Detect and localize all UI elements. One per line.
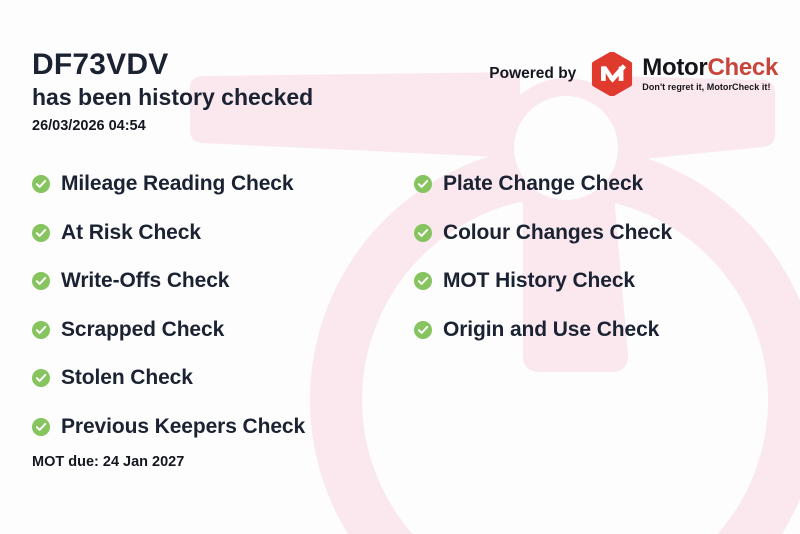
check-item-mot-history[interactable]: MOT History Check [414,257,672,306]
check-circle-icon [32,175,50,193]
check-item-plate-change[interactable]: Plate Change Check [414,160,672,209]
check-label: Stolen Check [61,366,193,390]
check-circle-icon [32,369,50,387]
checks-column-right: Plate Change Check Colour Changes Check … [414,160,672,354]
check-label: At Risk Check [61,221,201,245]
motorcheck-hexagon-m-check-icon [590,52,634,96]
motorcheck-logo[interactable]: MotorCheck Don't regret it, MotorCheck i… [590,52,778,96]
check-label: Previous Keepers Check [61,415,305,439]
motorcheck-wordmark: MotorCheck Don't regret it, MotorCheck i… [642,56,778,92]
check-label: MOT History Check [443,269,635,293]
check-circle-icon [32,418,50,436]
check-label: Scrapped Check [61,318,224,342]
powered-by-label: Powered by [489,65,576,83]
check-label: Plate Change Check [443,172,643,196]
check-circle-icon [32,272,50,290]
check-timestamp: 26/03/2026 04:54 [32,118,313,134]
powered-by-block: Powered by MotorCheck Don't regret it, M… [489,52,778,96]
check-item-at-risk[interactable]: At Risk Check [32,209,305,258]
history-check-card: DF73VDV has been history checked 26/03/2… [0,0,800,534]
check-label: Colour Changes Check [443,221,672,245]
check-item-mileage-reading[interactable]: Mileage Reading Check [32,160,305,209]
wordmark-check: Check [707,54,778,81]
registration-plate: DF73VDV [32,48,313,82]
check-circle-icon [32,321,50,339]
check-item-previous-keepers[interactable]: Previous Keepers Check [32,403,305,452]
check-item-scrapped[interactable]: Scrapped Check [32,306,305,355]
check-circle-icon [414,321,432,339]
check-item-stolen[interactable]: Stolen Check [32,354,305,403]
check-circle-icon [414,175,432,193]
check-label: Origin and Use Check [443,318,659,342]
header: DF73VDV has been history checked 26/03/2… [32,48,313,134]
checks-column-left: Mileage Reading Check At Risk Check Writ… [32,160,305,451]
wordmark-motor: Motor [642,54,707,81]
page-title: has been history checked [32,84,313,112]
mot-due-label: MOT due: 24 Jan 2027 [32,454,184,470]
check-item-write-offs[interactable]: Write-Offs Check [32,257,305,306]
check-label: Mileage Reading Check [61,172,293,196]
check-item-origin-and-use[interactable]: Origin and Use Check [414,306,672,355]
check-circle-icon [414,272,432,290]
check-label: Write-Offs Check [61,269,229,293]
check-item-colour-changes[interactable]: Colour Changes Check [414,209,672,258]
check-circle-icon [414,224,432,242]
wordmark-line: MotorCheck [642,56,778,80]
check-circle-icon [32,224,50,242]
brand-tagline: Don't regret it, MotorCheck it! [642,83,778,92]
